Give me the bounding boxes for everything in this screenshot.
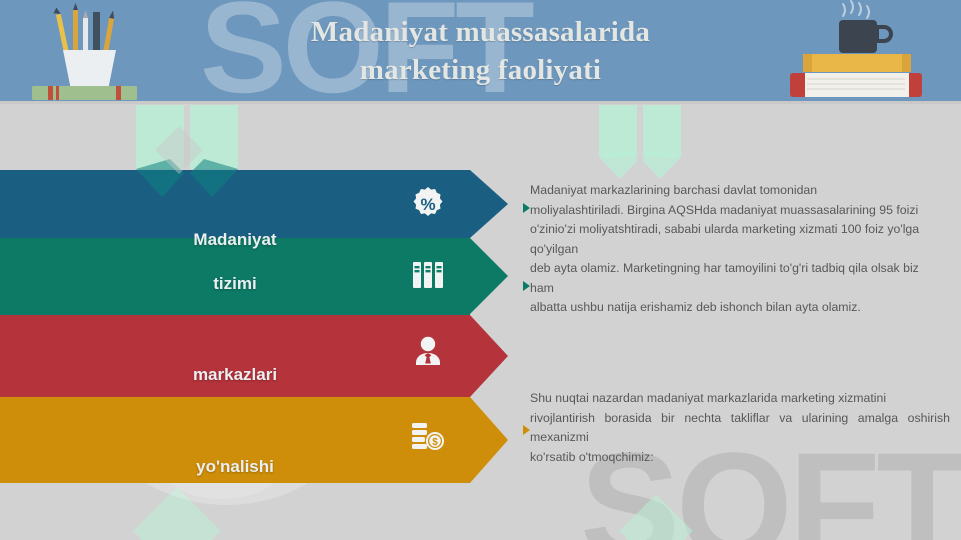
banner-arrow-tip: [470, 170, 508, 238]
paragraph-line: Shu nuqtai nazardan madaniyat markazlari…: [530, 389, 950, 409]
bullet-marker-green: [523, 203, 530, 213]
banner-yonalishi[interactable]: yo'nalishi $: [0, 397, 470, 483]
pencil-cup-on-book-icon: [18, 0, 148, 103]
bullet-marker-orange: [523, 425, 530, 435]
banner-label: Madaniyat: [0, 230, 470, 250]
businessman-icon: [408, 331, 448, 371]
slide-header: SOFT Madaniyat muassasalarida marketing …: [0, 0, 961, 103]
bullet-marker-green: [523, 281, 530, 291]
banner-madaniyat[interactable]: Madaniyat %: [0, 170, 470, 238]
paragraph-line: qo'yilgan: [530, 240, 950, 260]
svg-text:%: %: [420, 195, 435, 214]
banner-stack: Madaniyat % tizimi: [0, 170, 545, 485]
banner-body: [0, 170, 470, 238]
paragraph-line: rivojlantirish borasida bir nechta takli…: [530, 409, 950, 429]
banner-arrow-tip: [470, 315, 508, 397]
paragraph-line: o'zinio'zi moliyatshtiradi, sababi ulard…: [530, 220, 950, 240]
banner-label: markazlari: [0, 365, 470, 385]
banner-arrow-tip: [470, 397, 508, 483]
archive-books-icon: [408, 254, 448, 294]
paragraph-line: mexanizmi: [530, 428, 950, 448]
watermark-diamond-bottom-center: [619, 494, 693, 540]
percent-badge-icon: %: [408, 184, 448, 224]
slide-canvas: SOFT Madaniyat % tizim: [0, 0, 961, 540]
banner-arrow-tip: [470, 238, 508, 314]
paragraph-line: deb ayta olamiz. Marketingning har tamoy…: [530, 259, 950, 279]
money-coins-icon: $: [408, 415, 448, 455]
paragraph-line: ko'rsatib o'tmoqchimiz:: [530, 448, 950, 468]
paragraph-line: albatta ushbu natija erishamiz deb ishon…: [530, 298, 950, 318]
paragraph-line: moliyalashtiriladi. Birgina AQSHda madan…: [530, 201, 950, 221]
coffee-mug-on-books-icon: [781, 0, 931, 103]
paragraph-two: Shu nuqtai nazardan madaniyat markazlari…: [530, 389, 950, 467]
banner-label: yo'nalishi: [0, 457, 470, 477]
header-divider: [0, 101, 961, 104]
svg-text:$: $: [432, 437, 438, 448]
paragraph-one: Madaniyat markazlarining barchasi davlat…: [530, 181, 950, 318]
paragraph-line: ham: [530, 279, 950, 299]
paragraph-line: Madaniyat markazlarining barchasi davlat…: [530, 181, 950, 201]
banner-markazlari[interactable]: markazlari: [0, 315, 470, 397]
banner-label: tizimi: [0, 274, 470, 294]
